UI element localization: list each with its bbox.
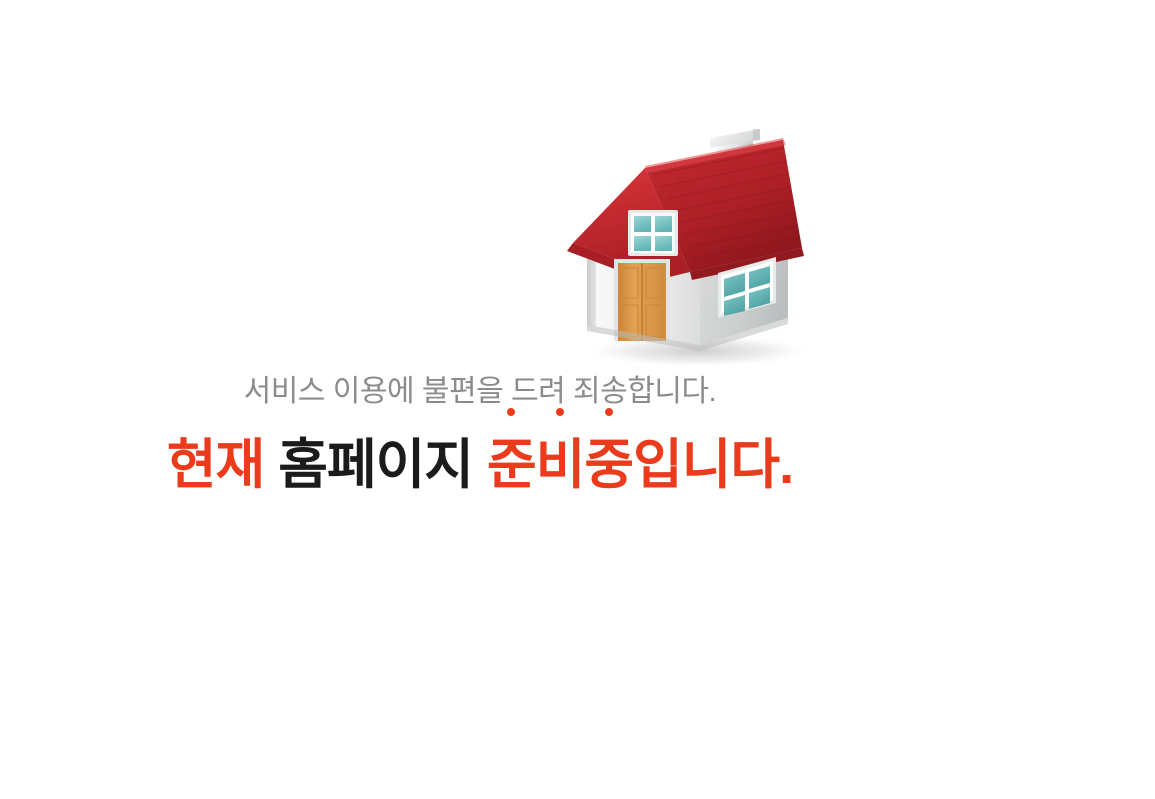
apology-text: 서비스 이용에 불편을 드려 죄송합니다.: [0, 372, 960, 412]
headline-segment-junbijung: 준비중: [487, 434, 633, 496]
headline-segment-hyeonjae: 현재: [167, 435, 264, 495]
headline-space-2: [473, 435, 487, 495]
headline-segment-homepage: 홈페이지: [278, 435, 473, 495]
message-block: 서비스 이용에 불편을 드려 죄송합니다. 현재 홈페이지 준비중입니다.: [0, 372, 960, 496]
headline: 현재 홈페이지 준비중입니다.: [0, 434, 960, 496]
gable-window-icon: [628, 210, 678, 256]
headline-space-1: [264, 435, 278, 495]
page-root: 서비스 이용에 불편을 드려 죄송합니다. 현재 홈페이지 준비중입니다.: [0, 0, 1155, 799]
headline-segment-junbijung-text: 준비중: [487, 435, 633, 495]
house-icon: [540, 118, 840, 368]
house-illustration: [540, 118, 840, 368]
headline-segment-imnida: 입니다.: [633, 435, 793, 495]
door-icon: [614, 259, 670, 341]
